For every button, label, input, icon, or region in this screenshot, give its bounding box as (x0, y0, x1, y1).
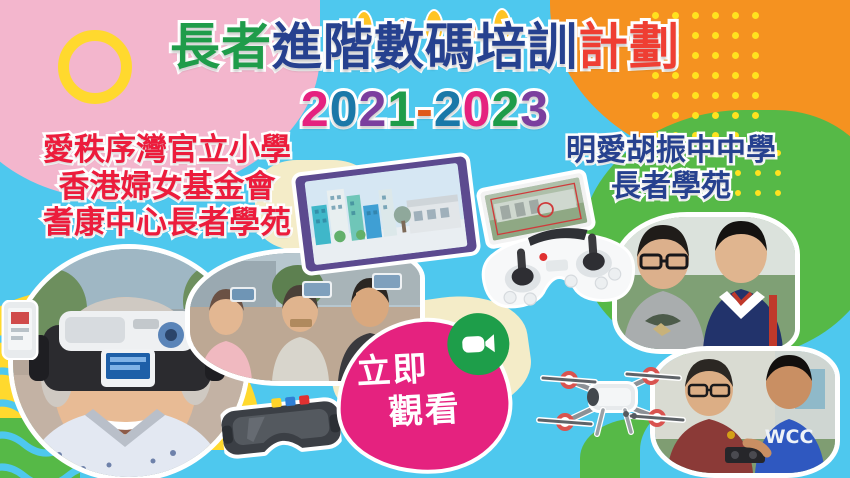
partner-organisations-left: 愛秩序灣官立小學香港婦女基金會耆康中心長者學苑 (2, 132, 332, 242)
year-char-6: 0 (463, 81, 492, 137)
year-char-4: - (416, 81, 434, 137)
year-char-8: 3 (520, 81, 549, 137)
dot (752, 72, 759, 79)
dot (732, 12, 739, 19)
dot (732, 72, 739, 79)
page-title: 長者進階數碼培訓計劃 (0, 22, 850, 73)
dot (692, 12, 699, 19)
dot (712, 12, 719, 19)
dot (672, 12, 679, 19)
drone-illustration (533, 348, 688, 440)
dot (752, 12, 759, 19)
watch-now-button[interactable]: 立即 觀看 (332, 314, 516, 478)
year-char-5: 2 (434, 81, 463, 137)
partner-left-line-0: 愛秩序灣官立小學 (2, 132, 332, 169)
promo-poster: WCC (0, 0, 850, 478)
vr-goggles-illustration (219, 390, 343, 464)
svg-text:WCC: WCC (765, 426, 814, 448)
watch-now-line1: 立即 (356, 352, 430, 390)
year-char-2: 2 (359, 81, 388, 137)
photo-senior-man-with-instructor (612, 212, 800, 354)
dot (652, 12, 659, 19)
partner-right-line-0: 明愛胡振中中學 (506, 133, 836, 169)
dot (692, 72, 699, 79)
year-char-3: 1 (387, 81, 416, 137)
dot (712, 72, 719, 79)
year-char-1: 0 (330, 81, 359, 137)
smartphone-edge-illustration (0, 300, 40, 360)
partner-left-line-2: 耆康中心長者學苑 (2, 205, 332, 242)
program-years: 2021-2023 (0, 80, 850, 138)
year-char-0: 2 (301, 81, 330, 137)
title-segment-1: 進階數碼培訓 (272, 19, 578, 75)
partner-right-line-1: 長者學苑 (506, 169, 836, 205)
watch-now-line2: 觀看 (388, 392, 462, 430)
title-segment-2: 計劃 (578, 19, 680, 75)
partner-organisations-right: 明愛胡振中中學長者學苑 (506, 133, 836, 205)
year-char-7: 2 (491, 81, 520, 137)
title-segment-0: 長者 (170, 19, 272, 75)
drone-controller-illustration (475, 213, 641, 320)
partner-left-line-1: 香港婦女基金會 (2, 169, 332, 206)
